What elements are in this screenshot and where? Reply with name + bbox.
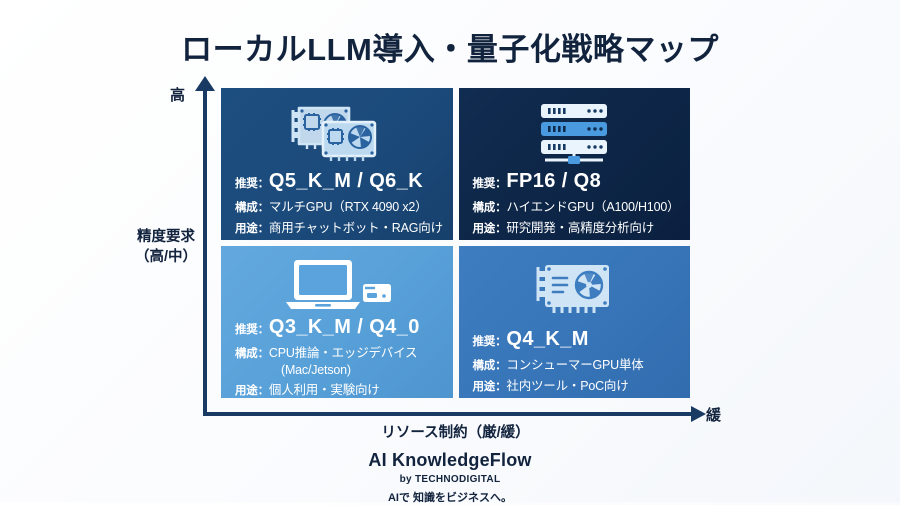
quadrant-matrix: 推奨： Q5_K_M / Q6_K 構成： マルチGPU（RTX 4090 x2… <box>221 88 690 398</box>
config-value: コンシューマーGPU単体 <box>506 354 643 373</box>
recommend-value: Q5_K_M / Q6_K <box>269 170 423 193</box>
quadrant-bottom-left-text: 推奨： Q3_K_M / Q4_0 構成： CPU推論・エッジデバイス (Mac… <box>221 316 453 398</box>
y-axis-high-label: 高 <box>170 84 185 105</box>
usage-value: 商用チャットボット・RAG向け <box>269 217 443 236</box>
quadrant-bottom-right-text: 推奨： Q4_K_M 構成： コンシューマーGPU単体 用途： 社内ツール・Po… <box>459 328 691 396</box>
usage-label: 用途： <box>473 378 507 394</box>
quadrant-bottom-left[interactable]: 推奨： Q3_K_M / Q4_0 構成： CPU推論・エッジデバイス (Mac… <box>221 246 453 398</box>
config-label: 構成： <box>473 199 507 215</box>
usage-value: 社内ツール・PoC向け <box>506 375 628 394</box>
x-axis-arrowhead <box>691 406 706 422</box>
x-axis-title: リソース制約（厳/緩） <box>221 421 690 442</box>
recommend-label: 推奨： <box>473 333 507 349</box>
usage-value: 研究開発・高精度分析向け <box>506 217 654 236</box>
strategy-map-canvas: ローカルLLM導入・量子化戦略マップ 高 緩 精度要求 （高/中） リソース制約… <box>0 0 900 502</box>
recommend-label: 推奨： <box>473 175 507 191</box>
recommend-label: 推奨： <box>235 175 269 191</box>
page-title: ローカルLLM導入・量子化戦略マップ <box>0 24 900 69</box>
quadrant-bottom-right[interactable]: 推奨： Q4_K_M 構成： コンシューマーGPU単体 用途： 社内ツール・Po… <box>459 246 691 398</box>
quadrant-top-right[interactable]: 推奨： FP16 / Q8 構成： ハイエンドGPU（A100/H100） 用途… <box>459 88 691 240</box>
brand-byline: by TECHNODIGITAL <box>0 474 900 485</box>
config-value-extra: (Mac/Jetson) <box>235 363 453 377</box>
brand-tagline: AIで 知識をビジネスへ。 <box>0 489 900 505</box>
config-value: CPU推論・エッジデバイス <box>269 342 417 361</box>
usage-label: 用途： <box>235 382 269 398</box>
recommend-value: Q4_K_M <box>506 328 588 351</box>
usage-label: 用途： <box>473 220 507 236</box>
brand-name: AI KnowledgeFlow <box>0 450 900 471</box>
quadrant-top-left[interactable]: 推奨： Q5_K_M / Q6_K 構成： マルチGPU（RTX 4090 x2… <box>221 88 453 240</box>
usage-label: 用途： <box>235 220 269 236</box>
dual-gpu-cards-icon <box>221 96 453 170</box>
config-label: 構成： <box>473 357 507 373</box>
recommend-value: Q3_K_M / Q4_0 <box>269 316 420 339</box>
single-gpu-card-icon <box>459 254 691 328</box>
usage-value: 個人利用・実験向け <box>269 379 380 398</box>
server-rack-icon <box>459 96 691 170</box>
laptop-edge-device-icon <box>221 254 453 316</box>
quadrant-top-left-text: 推奨： Q5_K_M / Q6_K 構成： マルチGPU（RTX 4090 x2… <box>221 170 453 238</box>
y-axis-title-line2: （高/中） <box>128 248 204 268</box>
config-label: 構成： <box>235 199 269 215</box>
x-axis-line <box>203 412 695 416</box>
x-axis-loose-label: 緩 <box>706 404 721 425</box>
y-axis-title-line1: 精度要求 <box>128 228 204 248</box>
recommend-value: FP16 / Q8 <box>506 170 601 193</box>
config-value: ハイエンドGPU（A100/H100） <box>506 196 679 215</box>
quadrant-top-right-text: 推奨： FP16 / Q8 構成： ハイエンドGPU（A100/H100） 用途… <box>459 170 691 238</box>
y-axis-title: 精度要求 （高/中） <box>128 228 204 267</box>
config-value: マルチGPU（RTX 4090 x2） <box>269 196 428 215</box>
config-label: 構成： <box>235 345 269 361</box>
y-axis-arrowhead <box>195 76 215 91</box>
footer-branding: AI KnowledgeFlow by TECHNODIGITAL AIで 知識… <box>0 450 900 505</box>
recommend-label: 推奨： <box>235 321 269 337</box>
